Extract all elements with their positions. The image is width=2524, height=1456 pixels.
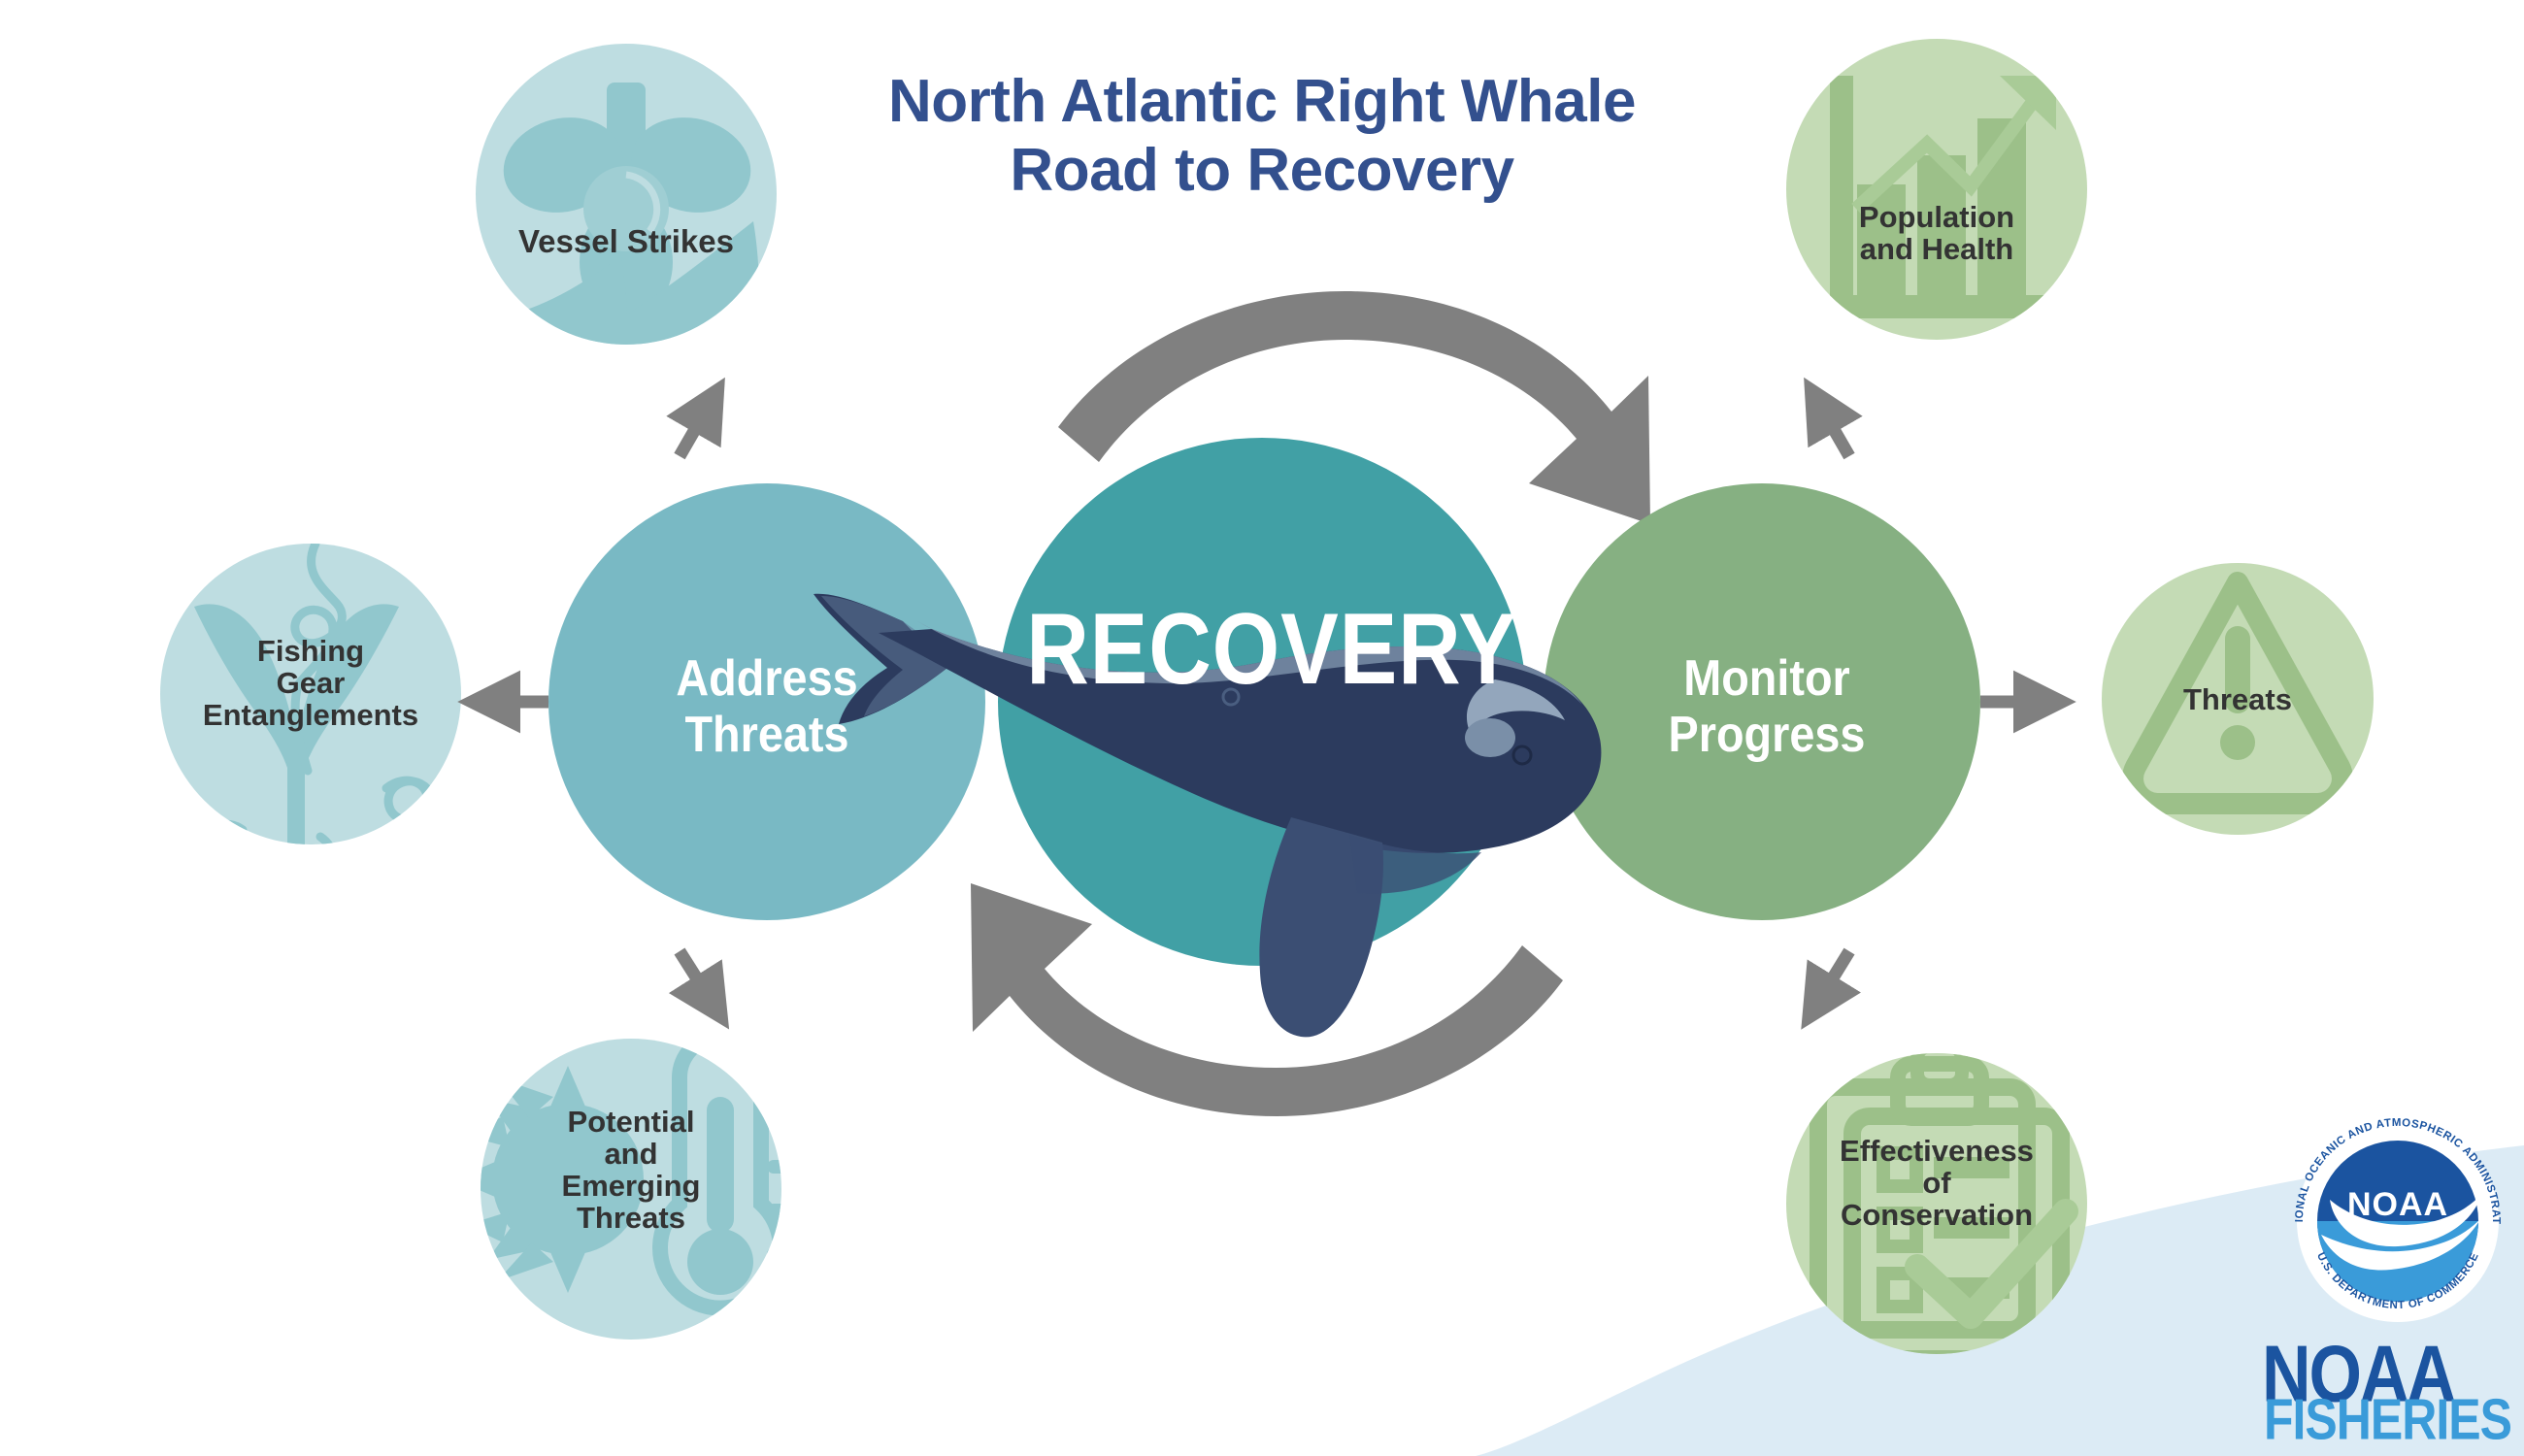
infographic-canvas: North Atlantic Right Whale Road to Recov…: [0, 0, 2524, 1456]
seal-noaa-text: NOAA: [2347, 1186, 2448, 1223]
noaa-logo[interactable]: NOAA NATIONAL OCEANIC AND ATMOSPHERIC AD…: [0, 0, 2524, 1456]
logo-wordmark-fisheries: FISHERIES: [2264, 1386, 2511, 1452]
svg-text:NATIONAL OCEANIC AND ATMOSPHER: NATIONAL OCEANIC AND ATMOSPHERIC ADMINIS…: [0, 0, 2502, 1225]
noaa-seal: NOAA NATIONAL OCEANIC AND ATMOSPHERIC AD…: [0, 0, 2502, 1322]
seal-ring-top-text: NATIONAL OCEANIC AND ATMOSPHERIC ADMINIS…: [0, 0, 2502, 1225]
